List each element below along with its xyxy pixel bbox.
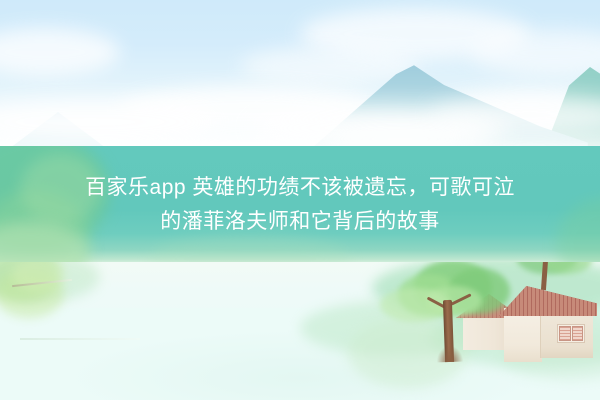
- lower-scene: [0, 262, 600, 400]
- sky-background: [0, 0, 600, 146]
- title-line-1: 百家乐app 英雄的功绩不该被遗忘，可歌可泣: [85, 173, 515, 203]
- window-panes: [559, 326, 583, 341]
- title-line-2: 的潘菲洛夫师和它背后的故事: [160, 207, 440, 237]
- cloud-icon: [0, 28, 120, 76]
- banner-title: 百家乐app 英雄的功绩不该被遗忘，可歌可泣 的潘菲洛夫师和它背后的故事: [0, 146, 600, 264]
- window-pane-left: [559, 326, 571, 341]
- grass-line: [20, 338, 140, 340]
- house-window: [557, 324, 585, 343]
- foreground-tree: [396, 262, 516, 364]
- title-band: 百家乐app 英雄的功绩不该被遗忘，可歌可泣 的潘菲洛夫师和它背后的故事: [0, 146, 600, 264]
- mist-layer: [0, 100, 220, 144]
- article-banner-image: 百家乐app 英雄的功绩不该被遗忘，可歌可泣 的潘菲洛夫师和它背后的故事: [0, 0, 600, 400]
- window-pane-right: [572, 326, 584, 341]
- left-foliage-cluster: [0, 262, 92, 332]
